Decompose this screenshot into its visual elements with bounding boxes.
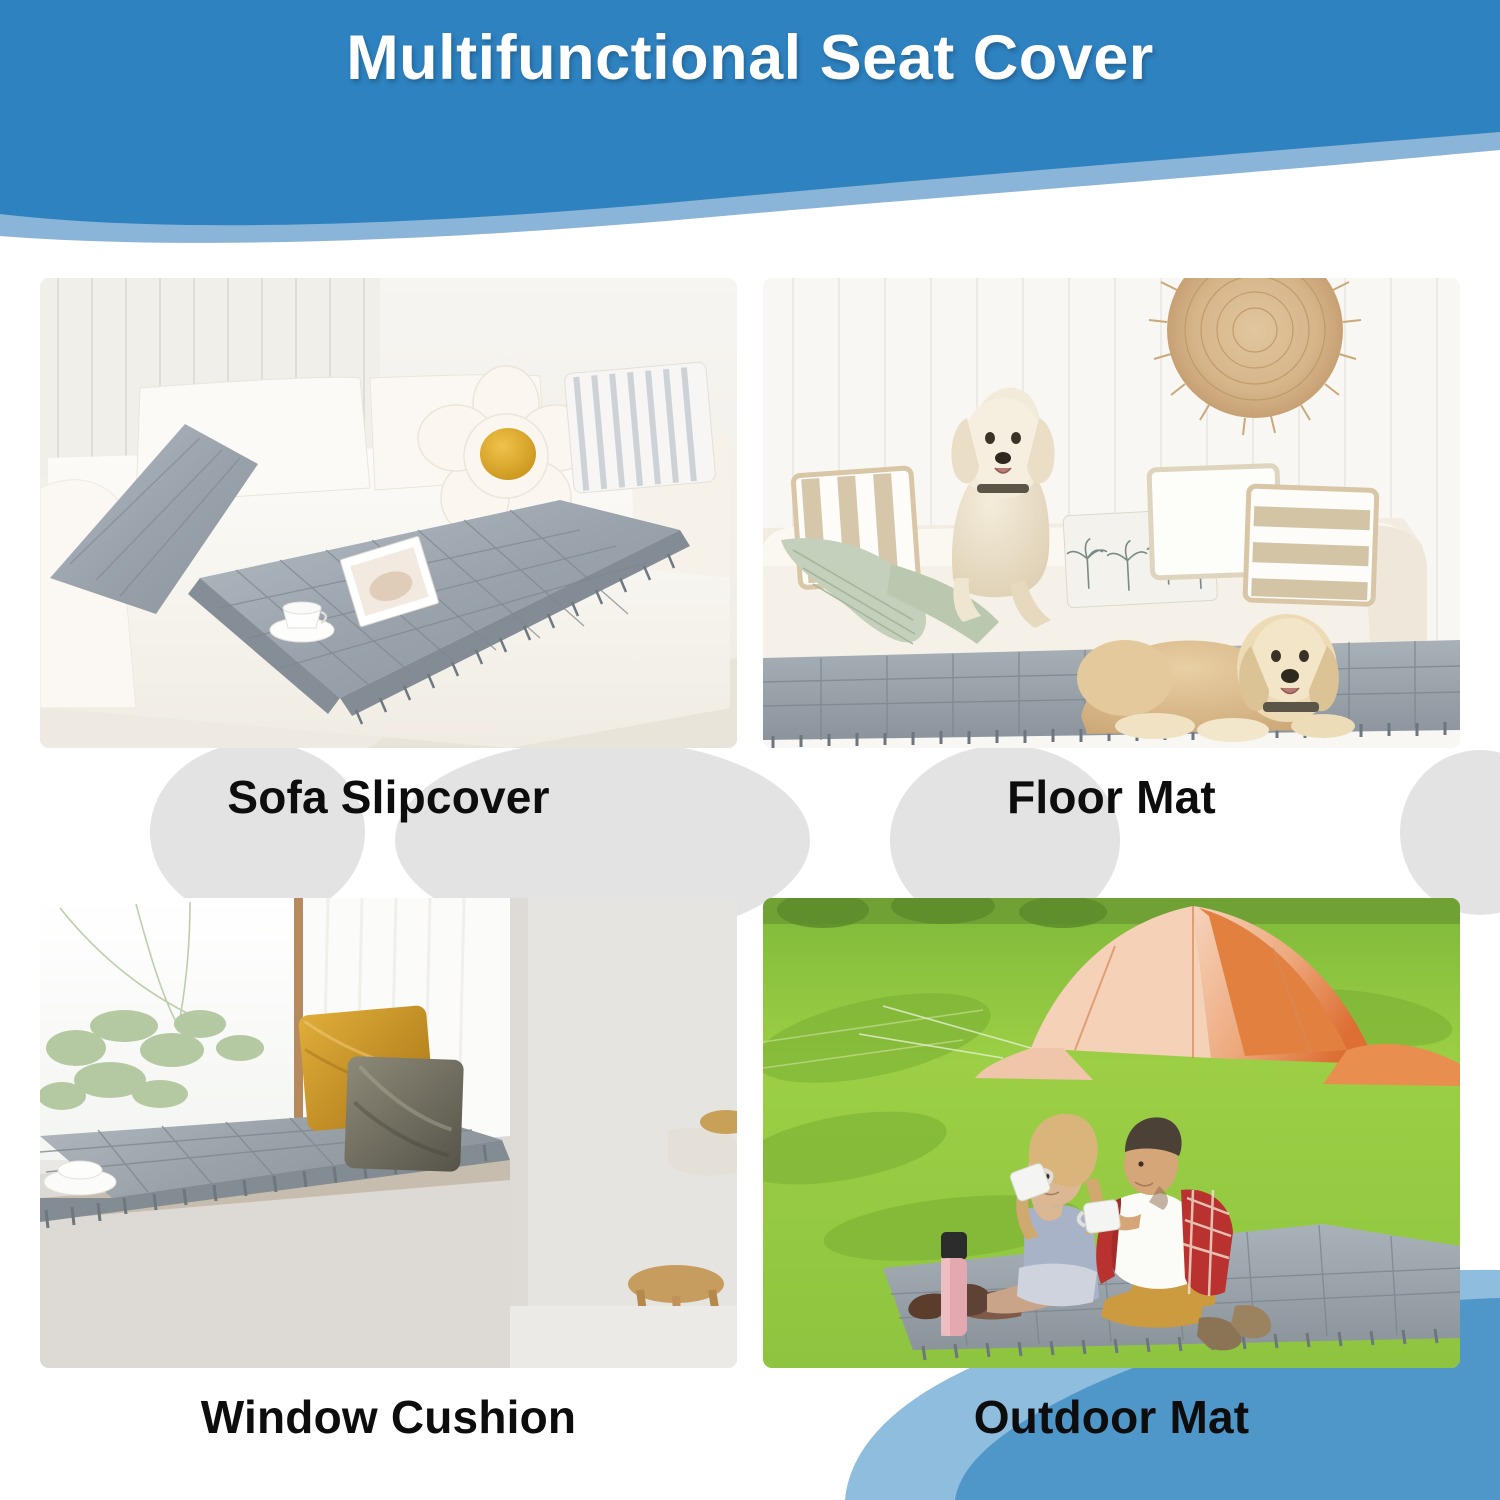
panel-caption: Window Cushion [40,1390,737,1444]
panel-window-cushion[interactable]: Window Cushion [40,898,737,1444]
photo-window-cushion [40,898,737,1368]
panel-grid: Sofa Slipcover [0,0,1500,1500]
photo-sofa-slipcover [40,278,737,748]
photo-outdoor-mat [763,898,1460,1368]
panel-sofa-slipcover[interactable]: Sofa Slipcover [40,278,737,824]
photo-floor-mat [763,278,1460,748]
product-infographic: Multifunctional Seat Cover [0,0,1500,1500]
panel-caption: Floor Mat [763,770,1460,824]
panel-outdoor-mat[interactable]: Outdoor Mat [763,898,1460,1444]
page-title: Multifunctional Seat Cover [0,22,1500,94]
panel-caption: Outdoor Mat [763,1390,1460,1444]
panel-caption: Sofa Slipcover [40,770,737,824]
panel-floor-mat[interactable]: Floor Mat [763,278,1460,824]
